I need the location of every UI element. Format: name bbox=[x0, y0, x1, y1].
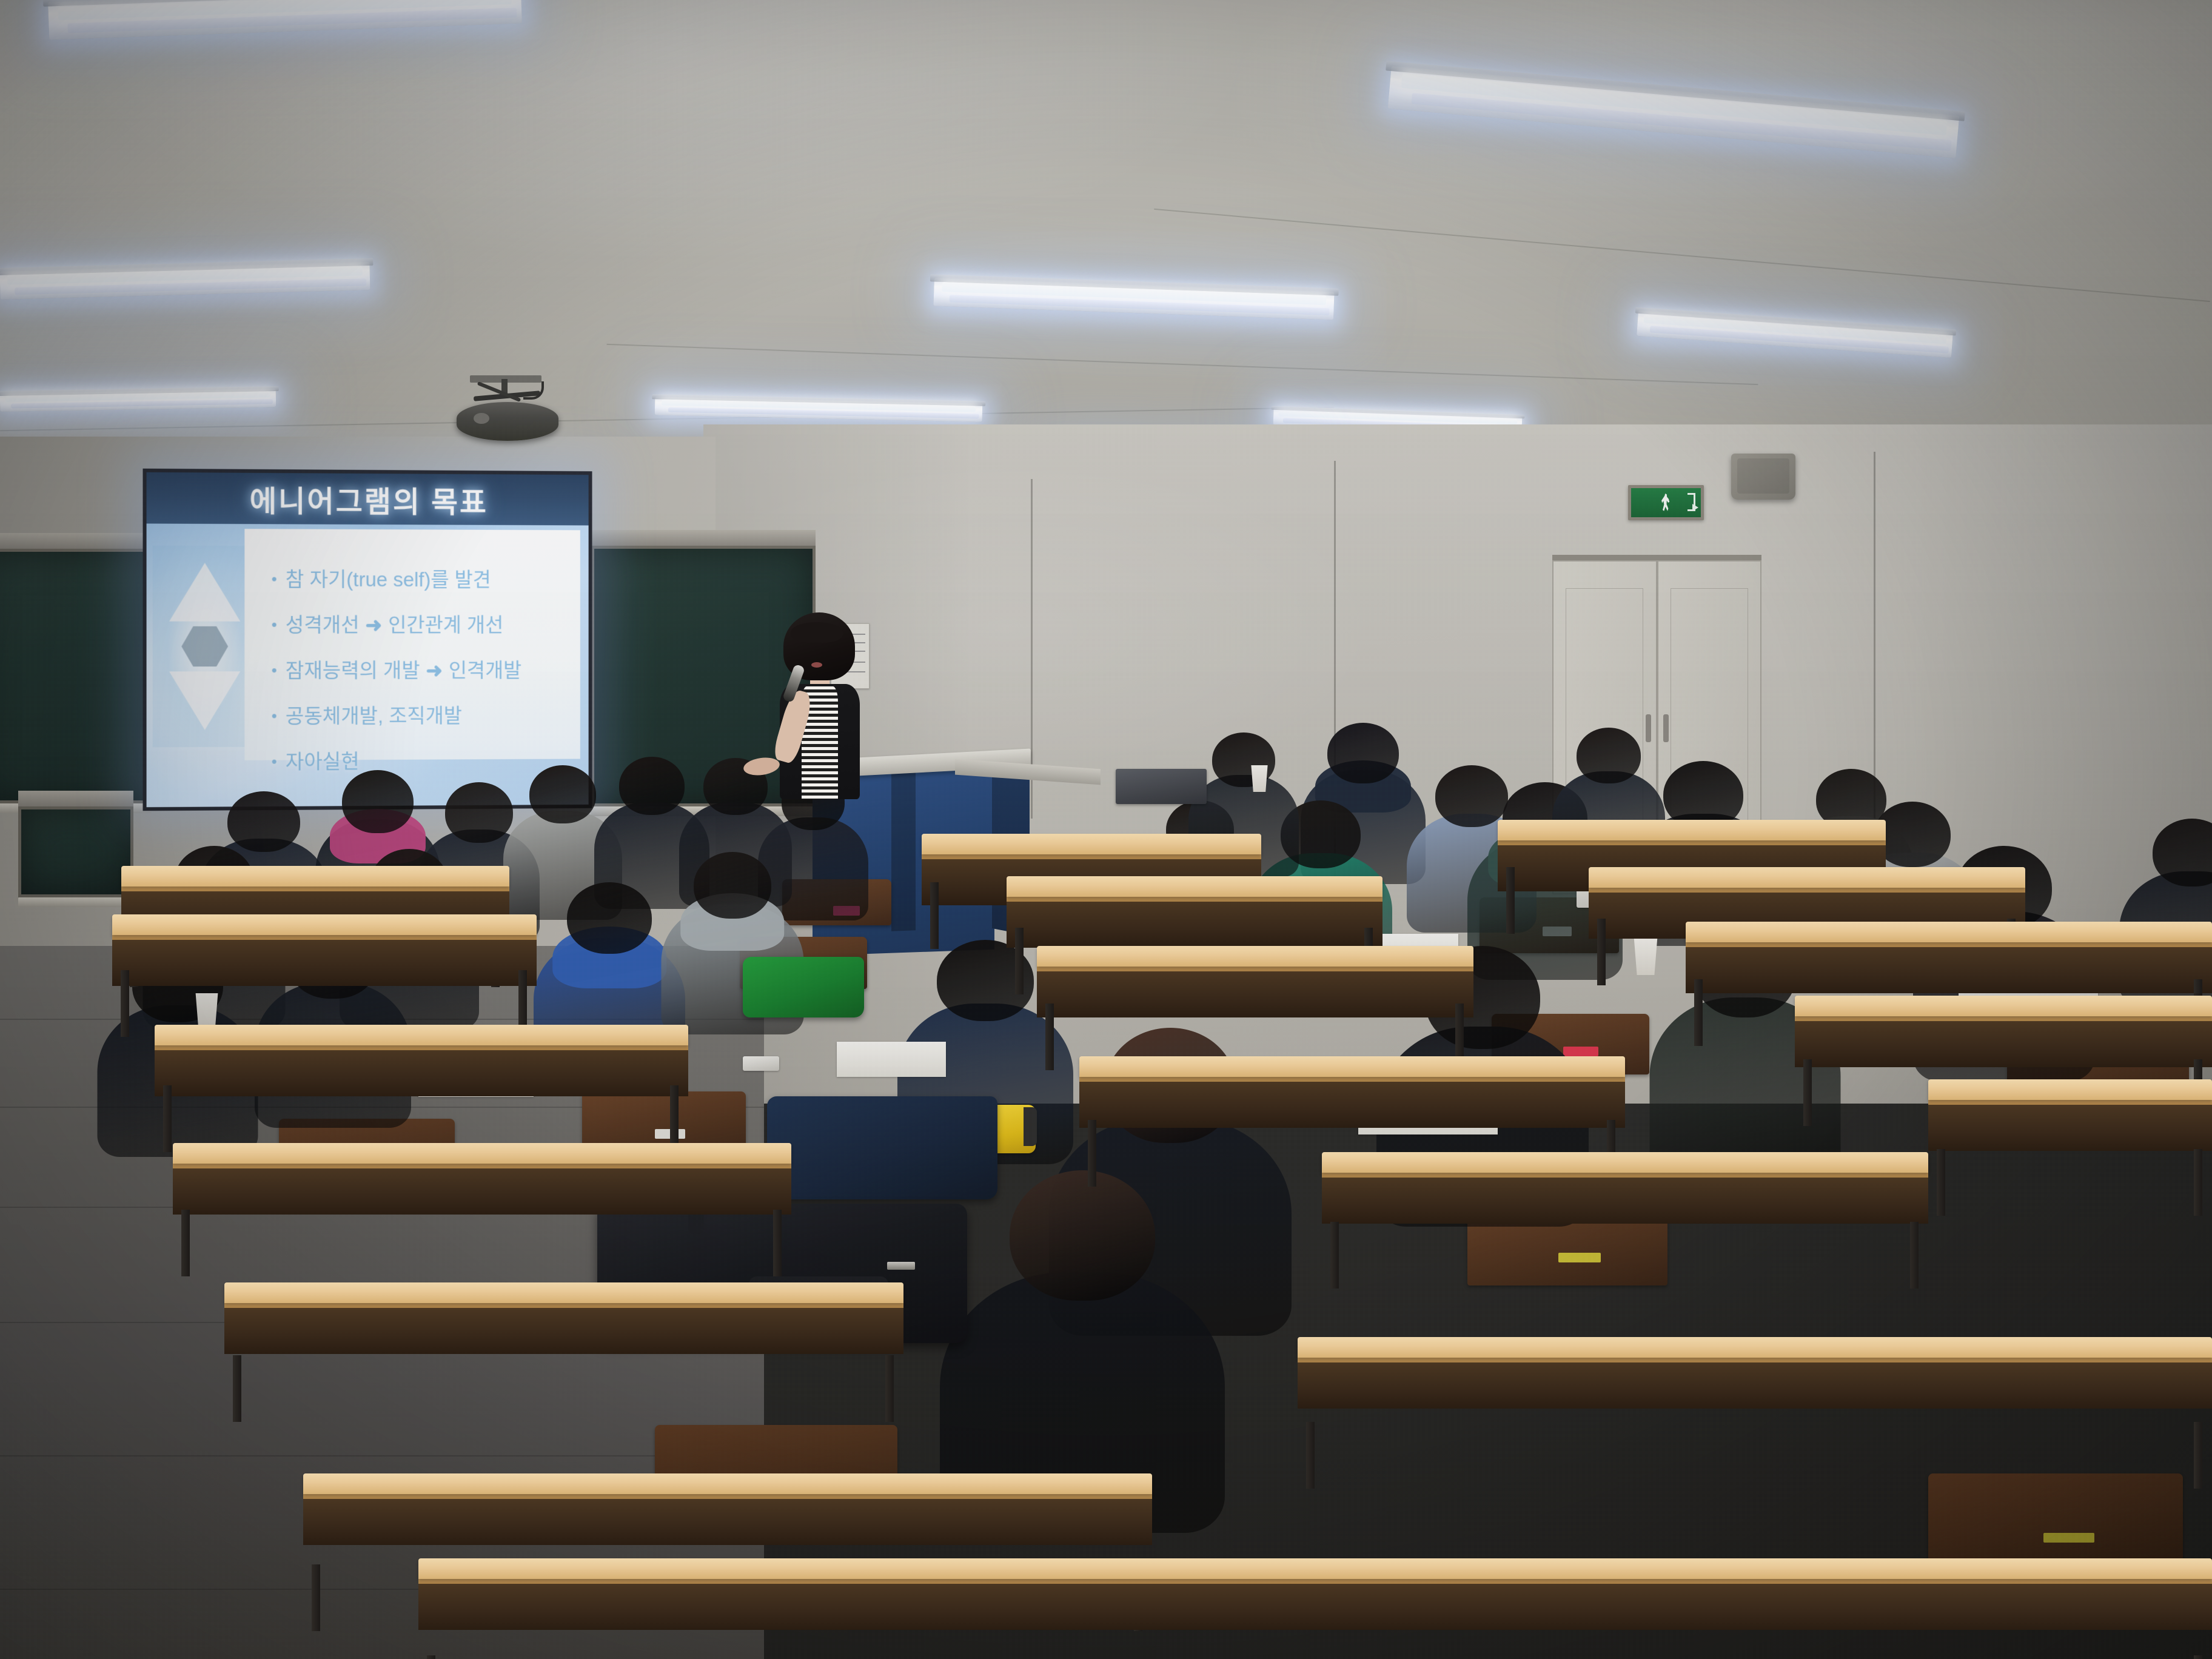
projector-icon bbox=[452, 379, 561, 446]
desk-top bbox=[1795, 996, 2212, 1016]
desk-row-mid-5 bbox=[1322, 1152, 1928, 1246]
bullet-text-post: 인간관계 개선 bbox=[388, 614, 503, 636]
bullet-text-post: 인격개발 bbox=[449, 659, 521, 682]
desk-leg bbox=[773, 1210, 782, 1276]
desk-leg bbox=[121, 970, 129, 1037]
lecturer-person bbox=[775, 612, 872, 800]
desk-row-bottom-right bbox=[1298, 1337, 2212, 1446]
desk-apron bbox=[224, 1307, 903, 1354]
desk-row-right-4 bbox=[1795, 996, 2212, 1084]
bullet-dot-icon: • bbox=[272, 662, 277, 678]
bullet-dot-icon: • bbox=[272, 708, 277, 723]
student-camo-hoodie bbox=[661, 852, 803, 1049]
person-head bbox=[529, 765, 596, 823]
desk-top bbox=[1589, 867, 2025, 888]
desk-apron bbox=[1079, 1081, 1625, 1128]
person-head bbox=[567, 882, 652, 954]
desk-leg bbox=[233, 1355, 241, 1422]
desk-top bbox=[418, 1558, 2212, 1579]
desk-leg bbox=[312, 1564, 320, 1631]
desk-leg bbox=[1088, 1120, 1096, 1187]
desk-top bbox=[155, 1025, 688, 1045]
desk-row-left-4 bbox=[173, 1143, 791, 1234]
desk-leg bbox=[1506, 867, 1515, 934]
desk-leg bbox=[1045, 1004, 1054, 1070]
desk-leg bbox=[885, 1355, 894, 1422]
chalkboard-top-trim bbox=[18, 791, 133, 806]
person-head bbox=[342, 770, 414, 833]
chalkboard-top-trim bbox=[591, 530, 816, 546]
person-head bbox=[227, 791, 300, 852]
desk-apron bbox=[1928, 1104, 2212, 1151]
person-head bbox=[619, 757, 685, 815]
running-man-icon bbox=[1661, 494, 1671, 512]
person-head bbox=[1663, 761, 1743, 829]
desk-top bbox=[1686, 922, 2212, 942]
desk-leg bbox=[1597, 919, 1606, 985]
desk-top bbox=[1298, 1337, 2212, 1358]
desk-apron bbox=[1322, 1176, 1928, 1224]
slide-bullet-4: •공동체개발, 조직개발 bbox=[272, 705, 574, 726]
desk-row-left-3 bbox=[155, 1025, 688, 1110]
desk-top bbox=[1037, 946, 1473, 967]
desk-top bbox=[112, 914, 537, 935]
desk-row-right-5 bbox=[1928, 1079, 2212, 1173]
desk-top bbox=[1928, 1079, 2212, 1100]
desk-apron bbox=[303, 1498, 1152, 1545]
bullet-text-pre: 성격개선 bbox=[286, 614, 360, 636]
desk-row-bottom-far bbox=[418, 1558, 2212, 1659]
bag-buckle bbox=[887, 1262, 915, 1270]
desk-leg bbox=[1937, 1149, 1945, 1216]
person-head bbox=[1327, 723, 1399, 783]
desk-row-left-5 bbox=[224, 1282, 903, 1379]
person-head bbox=[1010, 1170, 1155, 1301]
desk-top bbox=[1079, 1056, 1625, 1077]
chalk-rail bbox=[18, 897, 133, 907]
desk-top bbox=[1322, 1152, 1928, 1173]
desk-row-mid-2 bbox=[1007, 876, 1382, 952]
desk-leg bbox=[2194, 1149, 2202, 1216]
enneagram-star-graphic bbox=[153, 546, 257, 748]
desk-leg bbox=[2194, 1422, 2202, 1489]
desk-top bbox=[303, 1473, 1152, 1494]
classroom-photo-scene: 에니어그램의 목표 •참 자기(true self)를 발견•성격개선➜인간관계… bbox=[0, 0, 2212, 1659]
slide-bullet-1: •참 자기(true self)를 발견 bbox=[272, 569, 574, 590]
notebook-left-2 bbox=[837, 1042, 946, 1077]
desk-apron bbox=[418, 1583, 2212, 1630]
desk-apron bbox=[1037, 970, 1473, 1017]
desk-apron bbox=[155, 1049, 688, 1096]
chair-sticker bbox=[2043, 1533, 2094, 1543]
presentation-slide: 에니어그램의 목표 •참 자기(true self)를 발견•성격개선➜인간관계… bbox=[147, 472, 589, 807]
bullet-text: 공동체개발, 조직개발 bbox=[286, 705, 462, 728]
desk-row-right-3 bbox=[1686, 922, 2212, 1004]
desk-top bbox=[922, 834, 1261, 854]
desk-leg bbox=[930, 882, 939, 949]
bullet-text-pre: 잠재능력의 개발 bbox=[286, 659, 420, 682]
desk-leg bbox=[427, 1655, 435, 1659]
desk-row-mid-4 bbox=[1079, 1056, 1625, 1144]
desk-leg bbox=[163, 1085, 172, 1152]
desk-apron bbox=[112, 939, 537, 986]
arrow-icon: ➜ bbox=[366, 615, 383, 635]
laptop-back-wall bbox=[1116, 769, 1207, 804]
desk-leg bbox=[1803, 1059, 1812, 1126]
desk-leg bbox=[1330, 1222, 1339, 1289]
bullet-dot-icon: • bbox=[272, 571, 277, 587]
desk-leg bbox=[1015, 928, 1024, 994]
desk-apron bbox=[1795, 1020, 2212, 1067]
desk-row-left-2 bbox=[112, 914, 537, 994]
person-head bbox=[2153, 819, 2212, 886]
desk-row-mid-3 bbox=[1037, 946, 1473, 1028]
desk-top bbox=[1007, 876, 1382, 897]
phone-left bbox=[743, 1056, 779, 1071]
slide-bullet-2: •성격개선➜인간관계 개선 bbox=[272, 615, 574, 635]
desk-leg bbox=[1694, 979, 1703, 1046]
slide-title: 에니어그램의 목표 bbox=[250, 477, 488, 521]
slide-title-bar: 에니어그램의 목표 bbox=[147, 472, 589, 526]
chair-sticker bbox=[1558, 1253, 1601, 1262]
desk-top bbox=[173, 1143, 791, 1164]
desk-top bbox=[1498, 820, 1886, 840]
chalkboard-top-trim bbox=[0, 533, 152, 549]
slide-bullet-3: •잠재능력의 개발➜인격개발 bbox=[272, 660, 574, 680]
ceiling-surface bbox=[0, 0, 2212, 497]
desk-leg bbox=[2194, 1655, 2202, 1659]
person-head bbox=[1577, 728, 1641, 783]
arrow-icon: ➜ bbox=[426, 660, 442, 680]
desk-apron bbox=[1007, 900, 1382, 948]
desk-apron bbox=[173, 1167, 791, 1215]
person-head bbox=[694, 852, 771, 919]
bullet-text: 참 자기(true self)를 발견 bbox=[286, 568, 491, 591]
desk-top bbox=[121, 866, 509, 886]
desk-leg bbox=[1910, 1222, 1919, 1289]
chalkboard bbox=[0, 549, 152, 803]
desk-leg bbox=[1306, 1422, 1315, 1489]
slide-bullet-list: •참 자기(true self)를 발견•성격개선➜인간관계 개선•잠재능력의 … bbox=[244, 529, 580, 760]
bullet-dot-icon: • bbox=[272, 617, 277, 632]
chalkboard bbox=[18, 806, 133, 897]
projection-screen: 에니어그램의 목표 •참 자기(true self)를 발견•성격개선➜인간관계… bbox=[142, 469, 592, 811]
green-bag bbox=[743, 957, 864, 1017]
desk-apron bbox=[1298, 1361, 2212, 1409]
navy-backpack bbox=[767, 1096, 997, 1199]
emergency-exit-sign bbox=[1628, 485, 1704, 520]
bullet-dot-icon: • bbox=[272, 754, 277, 769]
wall-speaker-icon bbox=[1731, 454, 1795, 500]
desk-top bbox=[224, 1282, 903, 1303]
desk-leg bbox=[670, 1085, 679, 1152]
desk-apron bbox=[1686, 946, 2212, 993]
desk-leg bbox=[181, 1210, 190, 1276]
